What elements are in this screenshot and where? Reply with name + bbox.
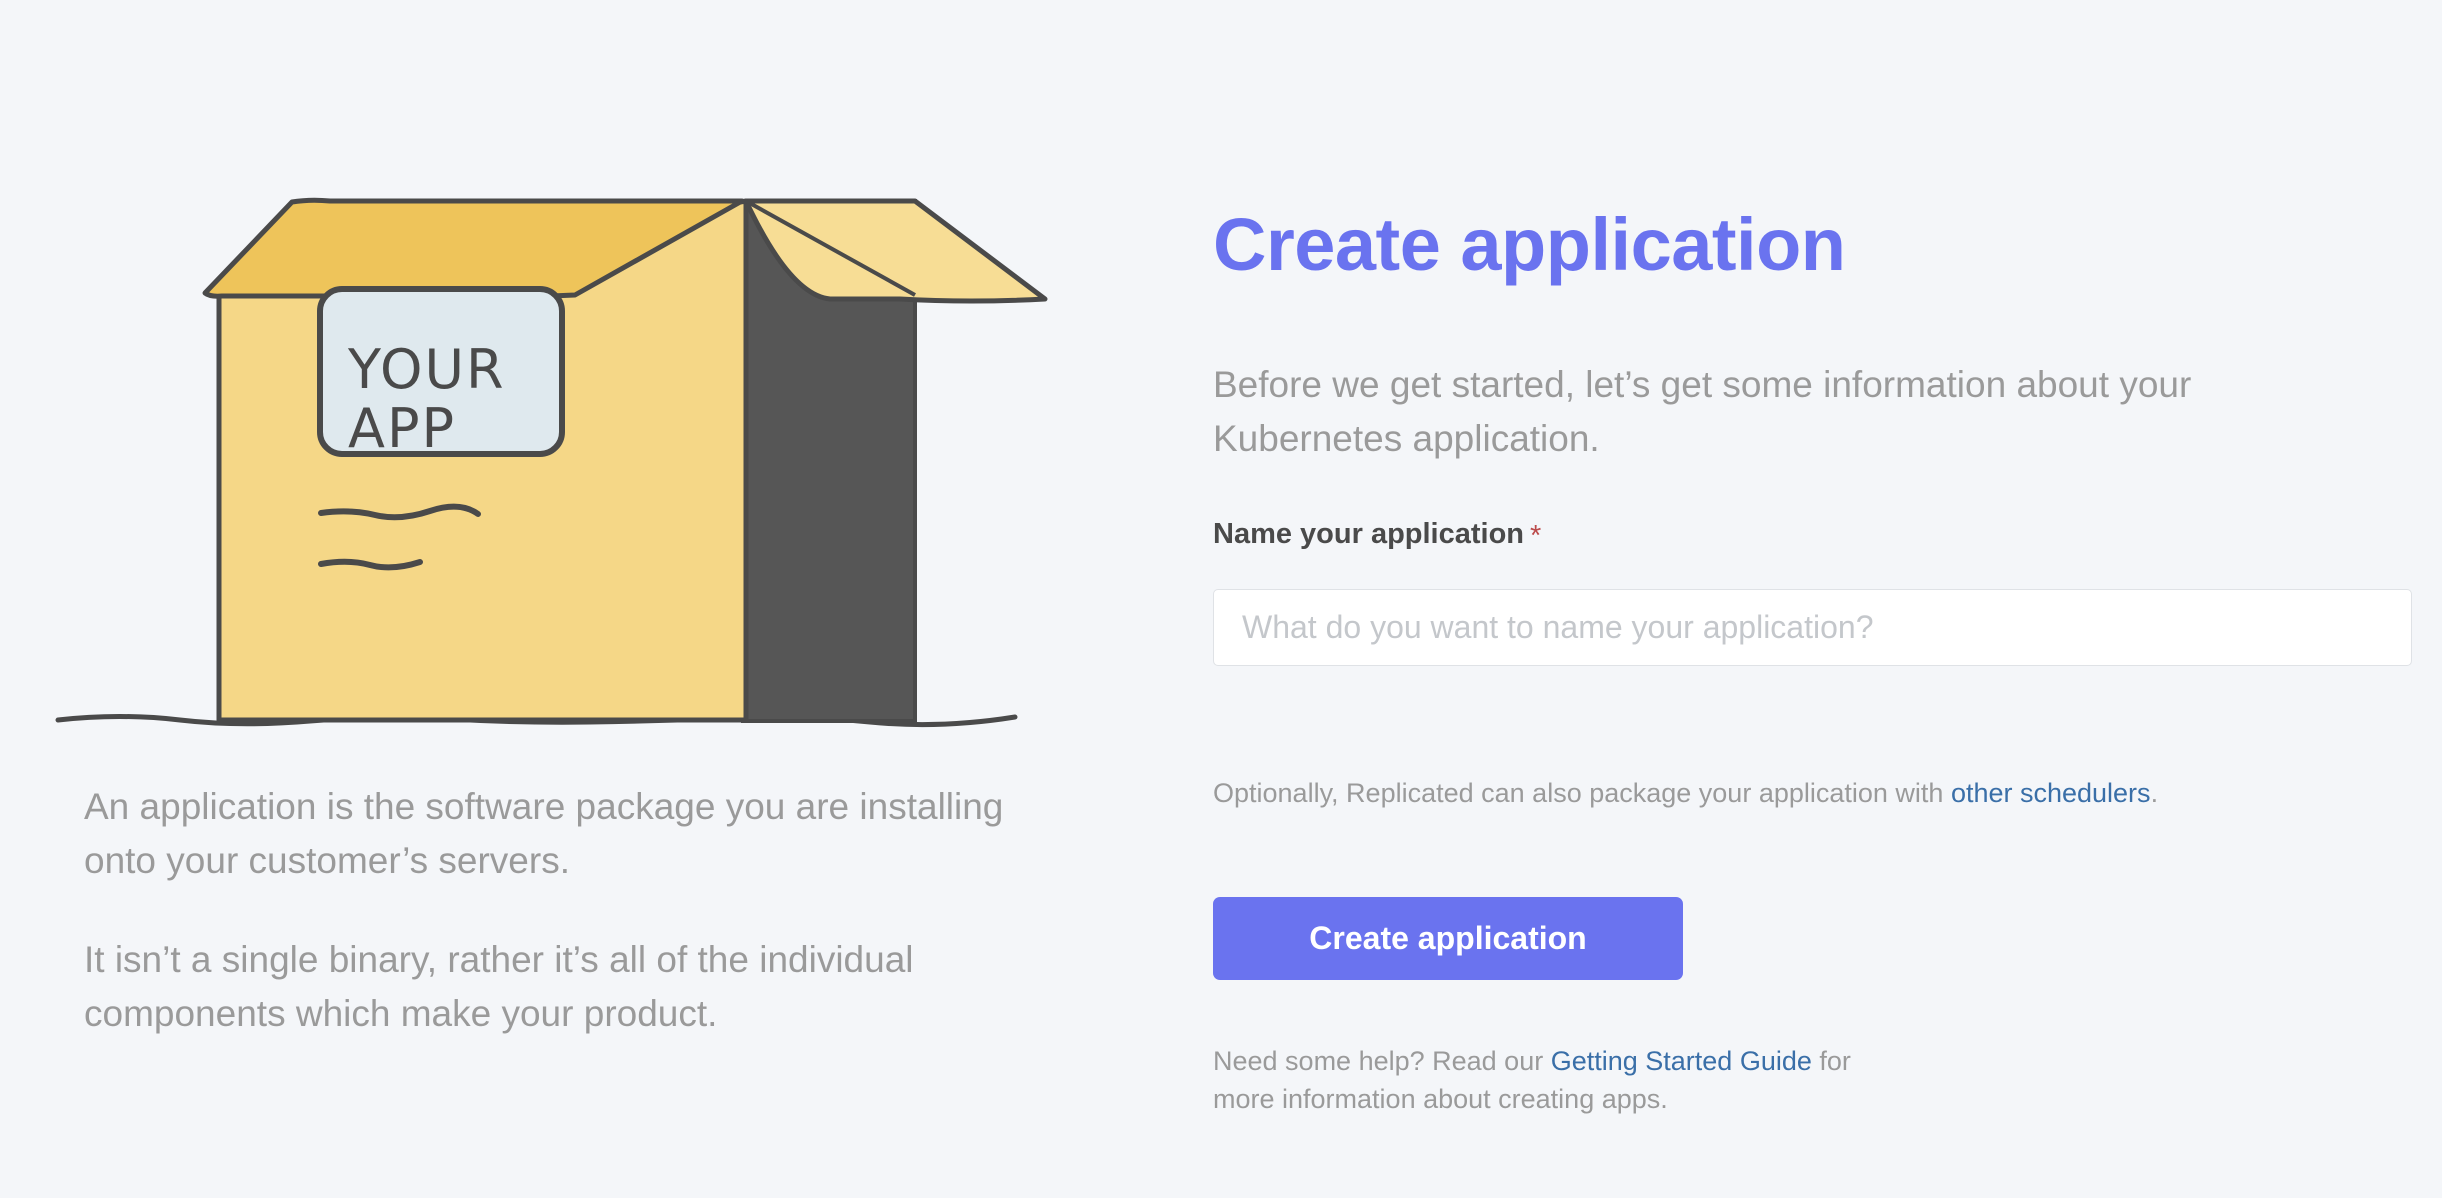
- illustration-description: An application is the software package y…: [84, 780, 1014, 1041]
- help-note-prefix: Need some help? Read our: [1213, 1046, 1551, 1076]
- illustration-column: YOUR APP An application is the software …: [0, 0, 1100, 1198]
- description-paragraph-2: It isn’t a single binary, rather it’s al…: [84, 933, 1014, 1040]
- shipping-label: YOUR APP: [320, 289, 562, 460]
- label-text-app: APP: [348, 397, 456, 460]
- label-text-your: YOUR: [347, 338, 506, 401]
- form-intro-text: Before we get started, let’s get some in…: [1213, 358, 2348, 465]
- open-cardboard-box-illustration: YOUR APP: [30, 175, 1050, 745]
- required-asterisk: *: [1530, 520, 1541, 552]
- application-name-input[interactable]: [1213, 589, 2412, 666]
- other-schedulers-note: Optionally, Replicated can also package …: [1213, 775, 2158, 813]
- getting-started-guide-link[interactable]: Getting Started Guide: [1551, 1046, 1812, 1076]
- create-application-form-column: Create application Before we get started…: [1213, 0, 2413, 1198]
- help-note: Need some help? Read our Getting Started…: [1213, 1042, 1913, 1119]
- other-schedulers-note-prefix: Optionally, Replicated can also package …: [1213, 778, 1951, 808]
- description-paragraph-1: An application is the software package y…: [84, 780, 1014, 887]
- name-field-label-text: Name your application: [1213, 518, 1524, 550]
- create-application-button[interactable]: Create application: [1213, 897, 1683, 980]
- create-application-page: YOUR APP An application is the software …: [0, 0, 2442, 1198]
- other-schedulers-note-suffix: .: [2151, 778, 2159, 808]
- page-title: Create application: [1213, 208, 1846, 282]
- other-schedulers-link[interactable]: other schedulers: [1951, 778, 2151, 808]
- name-field-label: Name your application*: [1213, 518, 1541, 551]
